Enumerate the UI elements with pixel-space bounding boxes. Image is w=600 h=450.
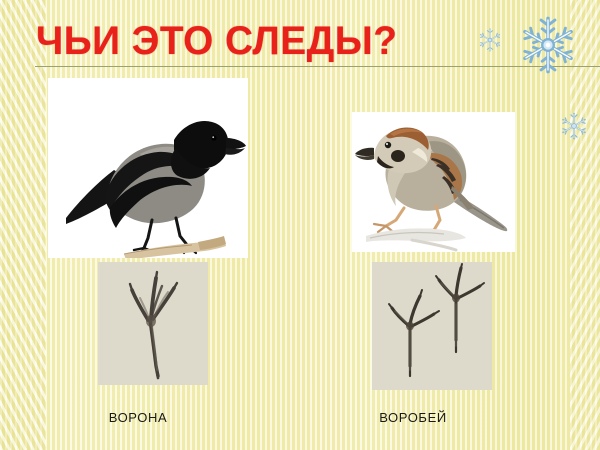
caption-crow: ВОРОНА	[78, 410, 198, 425]
slide-canvas: ЧЬИ ЭТО СЛЕДЫ?	[0, 0, 600, 450]
snowflake-small-right-icon	[559, 111, 589, 141]
snowflake-small-top-icon	[477, 27, 503, 53]
caption-sparrow: ВОРОБЕЙ	[350, 410, 476, 425]
crow-track-image	[98, 262, 208, 385]
crow-photo	[48, 78, 248, 258]
title-divider-rule	[35, 66, 600, 67]
page-title: ЧЬИ ЭТО СЛЕДЫ?	[36, 19, 397, 63]
snowflake-large-top-icon	[519, 16, 577, 74]
sparrow-track-image	[372, 262, 492, 390]
background-stripes-left	[0, 0, 46, 450]
sparrow-photo	[352, 112, 515, 252]
